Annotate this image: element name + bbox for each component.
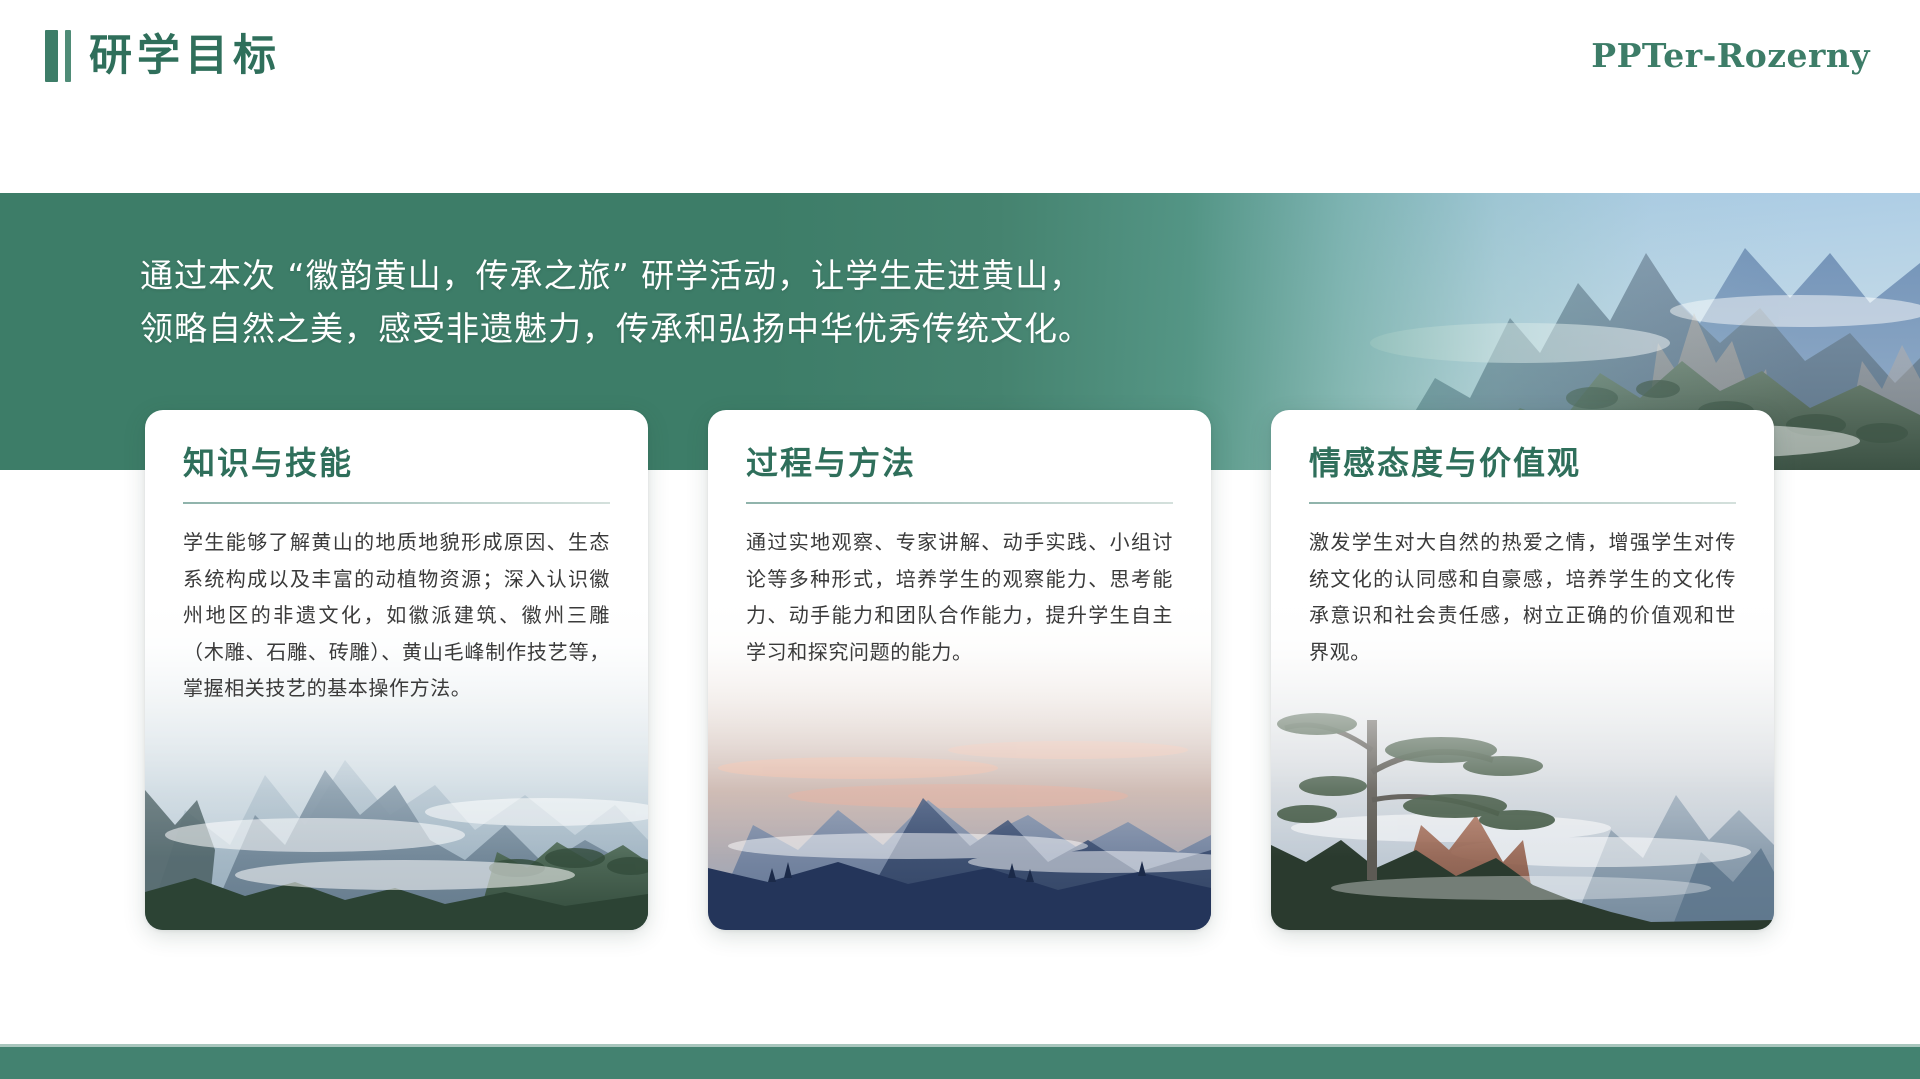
banner-line-2: 领略自然之美，感受非遗魅力，传承和弘扬中华优秀传统文化。: [140, 302, 1200, 355]
title-bar-thick-icon: [45, 30, 58, 82]
card-content: 知识与技能 学生能够了解黄山的地质地貌形成原因、生态系统构成以及丰富的动植物资源…: [145, 410, 648, 706]
page-title: 研学目标: [89, 35, 281, 78]
card-content: 过程与方法 通过实地观察、专家讲解、动手实践、小组讨论等多种形式，培养学生的观察…: [708, 410, 1211, 670]
card-heading: 过程与方法: [746, 444, 1173, 482]
card-content: 情感态度与价值观 激发学生对大自然的热爱之情，增强学生对传统文化的认同感和自豪感…: [1271, 410, 1774, 670]
footer-bar: [0, 1047, 1920, 1079]
banner-text: 通过本次 “徽韵黄山，传承之旅” 研学活动，让学生走进黄山， 领略自然之美，感受…: [140, 249, 1200, 356]
card-divider: [746, 502, 1173, 504]
slide-header: 研学目标 PPTer-Rozerny: [0, 0, 1920, 193]
objective-cards: 知识与技能 学生能够了解黄山的地质地貌形成原因、生态系统构成以及丰富的动植物资源…: [145, 410, 1775, 930]
brand-logo: PPTer-Rozerny: [1591, 36, 1870, 75]
card-divider: [1309, 502, 1736, 504]
banner-line-1: 通过本次 “徽韵黄山，传承之旅” 研学活动，让学生走进黄山，: [140, 249, 1200, 302]
objective-card-knowledge[interactable]: 知识与技能 学生能够了解黄山的地质地貌形成原因、生态系统构成以及丰富的动植物资源…: [145, 410, 648, 930]
title-group: 研学目标: [45, 30, 281, 82]
title-bar-thin-icon: [65, 30, 71, 82]
card-heading: 知识与技能: [183, 444, 610, 482]
card-divider: [183, 502, 610, 504]
card-heading: 情感态度与价值观: [1309, 444, 1736, 482]
title-bars-icon: [45, 30, 71, 82]
objective-card-process[interactable]: 过程与方法 通过实地观察、专家讲解、动手实践、小组讨论等多种形式，培养学生的观察…: [708, 410, 1211, 930]
card-body-text: 通过实地观察、专家讲解、动手实践、小组讨论等多种形式，培养学生的观察能力、思考能…: [746, 524, 1173, 670]
card-body-text: 学生能够了解黄山的地质地貌形成原因、生态系统构成以及丰富的动植物资源；深入认识徽…: [183, 524, 610, 706]
card-body-text: 激发学生对大自然的热爱之情，增强学生对传统文化的认同感和自豪感，培养学生的文化传…: [1309, 524, 1736, 670]
objective-card-values[interactable]: 情感态度与价值观 激发学生对大自然的热爱之情，增强学生对传统文化的认同感和自豪感…: [1271, 410, 1774, 930]
